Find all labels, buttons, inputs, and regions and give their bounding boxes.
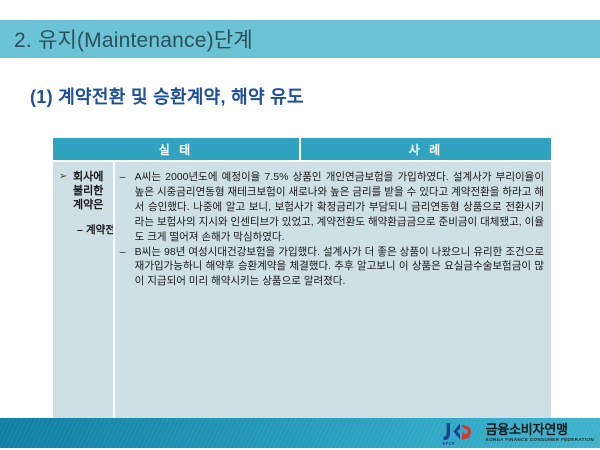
table-header-cases: 사 례 [301, 138, 551, 160]
status-heading: ➢ 회사에 불리한 계약은 [59, 171, 107, 212]
kfcf-logo-icon: KFCF [440, 421, 480, 445]
table-header-row: 실 태 사 례 [53, 138, 551, 160]
slide-title-banner: 2. 유지(Maintenance)단계 [0, 20, 600, 58]
dash-bullet-icon: – [77, 224, 86, 238]
logo-name-en: KOREA FINANCE CONSUMER FEDERATION [485, 438, 594, 443]
case-item-text: A씨는 2000년도에 예정이율 7.5% 상품인 개인연금보험을 가입하였다.… [135, 170, 544, 245]
table-header-status: 실 태 [53, 138, 301, 160]
case-item-text: B씨는 98년 여성시대건강보험을 가입했다. 설계사가 더 좋은 상품이 나왔… [135, 245, 544, 290]
arrow-bullet-icon: ➢ [59, 171, 73, 184]
case-item: – B씨는 98년 여성시대건강보험을 가입했다. 설계사가 더 좋은 상품이 … [120, 245, 544, 290]
organization-logo: KFCF 금융소비자연맹 KOREA FINANCE CONSUMER FEDE… [440, 420, 594, 446]
logo-name-ko: 금융소비자연맹 [485, 423, 594, 436]
logo-abbrev: KFCF [442, 441, 454, 446]
case-item: – A씨는 2000년도에 예정이율 7.5% 상품인 개인연금보험을 가입하였… [120, 170, 544, 245]
table-cell-status: ➢ 회사에 불리한 계약은 – 계약전환 : 준비금이 아닌 해약환급금 으로 … [53, 160, 115, 419]
table-cell-cases: – A씨는 2000년도에 예정이율 7.5% 상품인 개인연금보험을 가입하였… [115, 160, 551, 419]
dash-bullet-icon: – [120, 170, 135, 185]
status-item-label: 계약전환 : [86, 224, 115, 238]
status-heading-label: 회사에 불리한 계약은 [73, 171, 107, 212]
dash-bullet-icon: – [120, 245, 135, 260]
content-table: 실 태 사 례 ➢ 회사에 불리한 계약은 – 계약전환 : 준비금이 아닌 해… [52, 137, 552, 420]
table-body-row: ➢ 회사에 불리한 계약은 – 계약전환 : 준비금이 아닌 해약환급금 으로 … [53, 160, 551, 419]
status-item: – 계약전환 : 준비금이 아닌 해약환급금 으로 전환 [77, 224, 107, 419]
slide-title: 2. 유지(Maintenance)단계 [14, 24, 253, 54]
logo-wordmark: 금융소비자연맹 KOREA FINANCE CONSUMER FEDERATIO… [485, 423, 594, 443]
slide-subtitle: (1) 계약전환 및 승환계약, 해약 유도 [30, 83, 304, 109]
